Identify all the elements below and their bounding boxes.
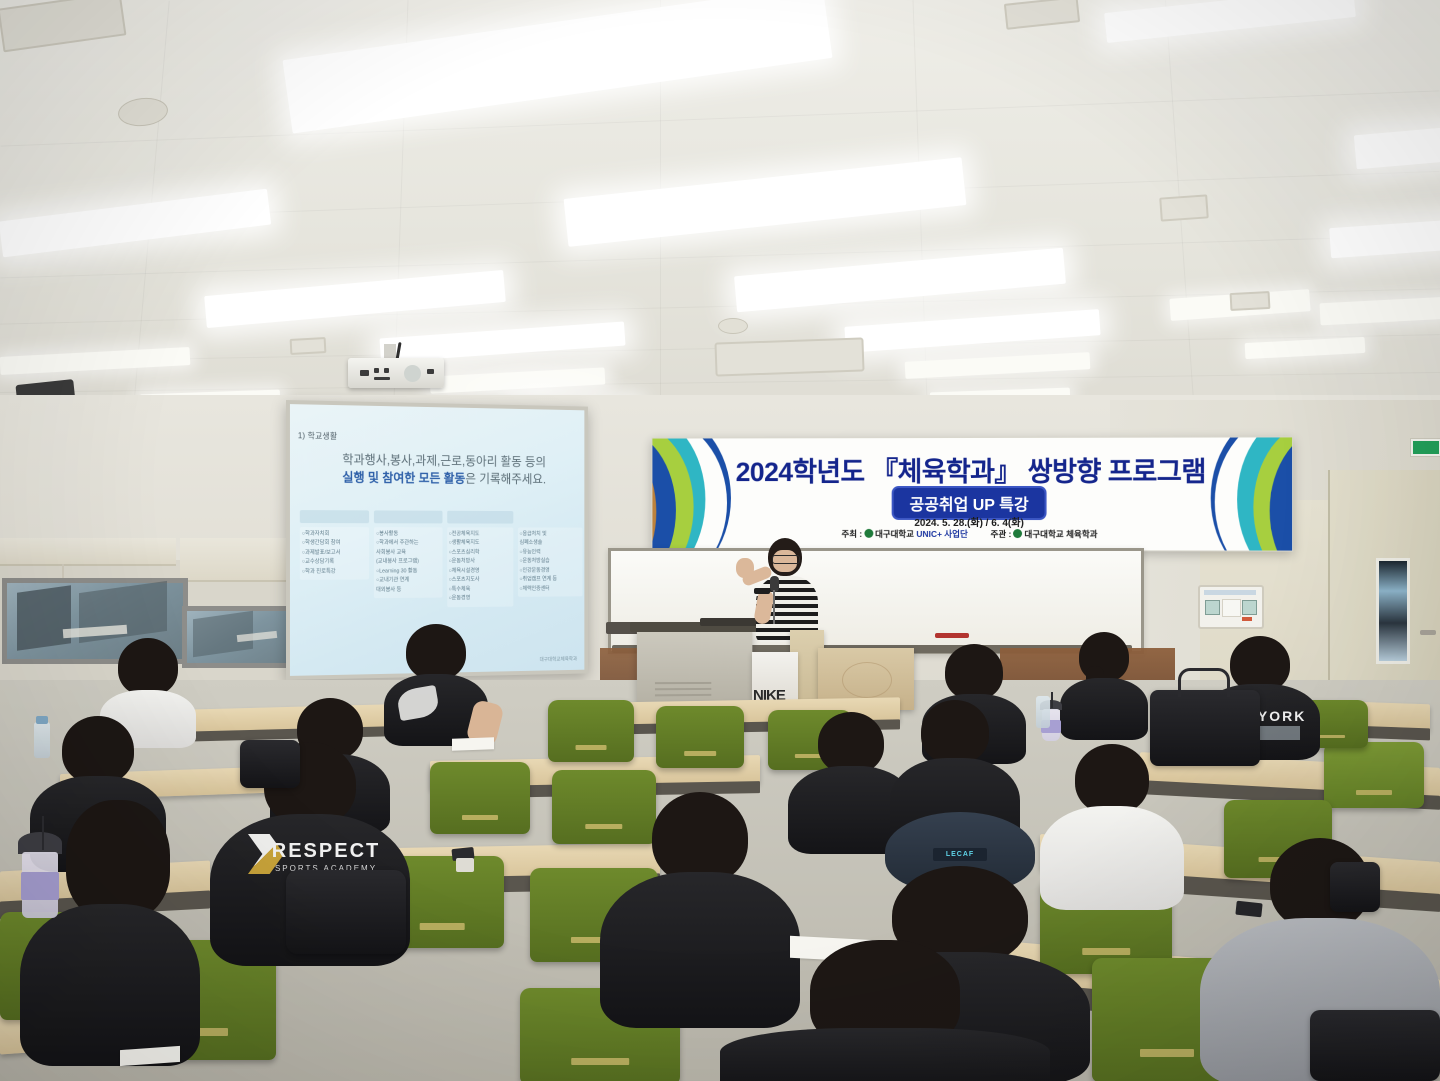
host-logo-icon — [864, 529, 873, 538]
small-item — [456, 858, 474, 872]
column-item: ○학과자치회 — [302, 530, 368, 539]
column-item: ○봉사활동 — [376, 530, 440, 539]
column-item: 심폐소생술 — [520, 539, 581, 548]
ceiling-light — [1329, 216, 1440, 258]
audience-member — [384, 624, 488, 744]
whiteboard-marker[interactable] — [935, 633, 969, 638]
handout-paper — [452, 737, 494, 750]
ceiling-light — [734, 248, 1066, 313]
torso — [1060, 678, 1148, 740]
head — [66, 800, 170, 920]
column-item: (교내봉사 프로그램) — [376, 558, 440, 568]
column-item: ○과제발표/보고서 — [302, 549, 368, 559]
slide-header: 1) 학교생활 — [298, 430, 337, 442]
ceiling-light — [1245, 337, 1366, 359]
chair[interactable] — [656, 706, 744, 768]
slide-columns: ○학과자치회 ○학생간담회 참여 ○과제발표/보고서 ○교수상담기록 ○학과 진… — [300, 510, 583, 608]
ceiling — [0, 0, 1440, 430]
cup-lid — [18, 832, 62, 854]
lecture-hall-photo: 1) 학교생활 학과행사,봉사,과제,근로,동아리 활동 등의 실행 및 참여한… — [0, 0, 1440, 1081]
glasses-icon — [772, 555, 800, 564]
column-item: ○스포츠지도사 — [449, 576, 512, 586]
phone-icon[interactable] — [1235, 901, 1262, 918]
column-item: ○학과에서 주관하는 — [376, 539, 440, 548]
backpack — [240, 740, 300, 788]
slide-line-2: 실행 및 참여한 모든 활동은 기록해주세요. — [314, 468, 573, 488]
chair[interactable] — [430, 762, 530, 834]
column-item: ○응급처치 및 — [520, 530, 581, 539]
column-item: ○인강운동경영 — [520, 567, 581, 576]
respect-shirt-text: RESPECT — [272, 840, 380, 863]
column-item: ○전공체육지도 — [449, 530, 512, 539]
head — [652, 792, 748, 884]
organizer-label: 주관 : — [991, 529, 1012, 539]
water-bottle — [34, 722, 50, 758]
head — [818, 712, 884, 774]
window-blind[interactable] — [0, 538, 176, 566]
column-item: ○체력인증센터 — [520, 585, 581, 595]
head — [945, 644, 1003, 700]
bottle-cap — [36, 716, 48, 724]
duffel-bag — [1150, 690, 1260, 766]
wristwatch-icon — [754, 588, 770, 594]
ceiling-light — [844, 309, 1100, 353]
ceiling-ac-unit — [714, 337, 864, 376]
chair[interactable] — [1324, 742, 1424, 808]
door-handle[interactable] — [1420, 630, 1436, 635]
audience-member-foreground — [720, 950, 1050, 1081]
banner-title: 2024학년도 『체육학과』 쌍방향 프로그램 — [652, 450, 1292, 490]
air-vent-icon — [290, 337, 327, 355]
backpack — [1330, 862, 1380, 912]
air-vent-icon — [1230, 291, 1271, 311]
event-banner: 2024학년도 『체육학과』 쌍방향 프로그램 공공취업 UP 특강 2024.… — [651, 436, 1293, 551]
iced-beverage-cup — [18, 832, 62, 918]
backpack — [1310, 1010, 1440, 1081]
slide-footer-logo: 대구대학교체육학과 — [540, 655, 578, 662]
head — [118, 638, 178, 696]
host-program: UNIC+ 사업단 — [916, 529, 967, 539]
straw — [42, 816, 44, 850]
projector-icon — [348, 358, 444, 388]
box-seal — [842, 662, 892, 698]
ceiling-light — [1320, 297, 1440, 326]
ceiling-light — [0, 347, 190, 375]
ceiling-light — [1104, 0, 1356, 43]
host-label: 주최 : — [841, 529, 862, 539]
column-heading — [447, 511, 513, 524]
smoke-detector-icon — [718, 318, 748, 334]
organizer-name: 대구대학교 체육학과 — [1024, 529, 1097, 539]
column-item: ○학생간담회 참여 — [302, 539, 368, 548]
slide-main-text: 학과행사,봉사,과제,근로,동아리 활동 등의 실행 및 참여한 모든 활동은 … — [314, 450, 573, 488]
door-window — [1376, 558, 1410, 664]
microphone-stand — [773, 590, 775, 624]
column-item: ○스포츠심리학 — [449, 549, 512, 558]
water-bottle — [1036, 696, 1050, 728]
air-vent-icon — [0, 0, 126, 52]
slide-column: ○응급처치 및 심폐소생술 ○유능인력 ○운동처방실습 ○인강운동경영 ○취업캠… — [518, 511, 583, 606]
ceiling-light — [204, 270, 506, 328]
organizer-logo-icon — [1013, 529, 1022, 538]
torso — [20, 904, 200, 1066]
column-heading — [300, 510, 369, 523]
smoke-detector-icon — [117, 95, 170, 128]
column-item: ○체육시설경영 — [449, 567, 512, 576]
air-vent-icon — [1004, 0, 1080, 30]
audience-member — [1060, 632, 1148, 740]
ceiling-light — [283, 0, 833, 134]
column-item: ○운동경영 — [449, 594, 512, 604]
exit-sign-icon — [1410, 438, 1440, 457]
column-item: ○운동처방사 — [449, 558, 512, 567]
column-item: ○생활체육지도 — [449, 539, 512, 548]
head — [62, 716, 134, 784]
chair[interactable] — [548, 700, 634, 762]
host-name: 대구대학교 — [875, 529, 914, 539]
ceiling-light — [905, 352, 1091, 379]
column-item: ○Learning 30 활동 — [376, 567, 440, 577]
lecaf-cap-text: LECAF — [933, 848, 987, 861]
column-item: 사회봉사 교육 — [376, 549, 440, 558]
backpack — [286, 870, 406, 954]
column-item: ○교내기관 연계 — [376, 576, 440, 586]
straw — [1051, 692, 1053, 708]
cup-sleeve — [21, 872, 59, 900]
column-heading — [374, 510, 442, 523]
slide-column: ○전공체육지도 ○생활체육지도 ○스포츠심리학 ○운동처방사 ○체육시설경영 ○… — [447, 511, 513, 607]
slide-line-2-tail: 은 기록해주세요. — [465, 472, 546, 486]
bag-strap — [1178, 668, 1230, 697]
presenter-hand — [736, 558, 754, 578]
column-item: ○취업캠프 연계 등 — [520, 576, 581, 585]
slide-column: ○학과자치회 ○학생간담회 참여 ○과제발표/보고서 ○교수상담기록 ○학과 진… — [300, 510, 369, 608]
column-item: ○학과 진로특강 — [302, 567, 368, 577]
slide-column: ○봉사활동 ○학과에서 주관하는 사회봉사 교육 (교내봉사 프로그램) ○Le… — [374, 510, 442, 607]
wall-control-panel-icon[interactable] — [1198, 585, 1264, 629]
ceiling-light — [564, 157, 967, 247]
window-blind[interactable] — [180, 538, 300, 582]
ceiling-light — [1354, 121, 1440, 170]
head — [1075, 744, 1149, 814]
head — [406, 624, 466, 680]
torso — [720, 1028, 1050, 1081]
column-item: ○교수상담기록 — [302, 558, 368, 568]
column-item: ○유능인력 — [520, 548, 581, 557]
ceiling-light — [379, 321, 625, 362]
head — [921, 700, 989, 764]
air-vent-icon — [1159, 194, 1209, 221]
column-item: ○운동처방실습 — [520, 558, 581, 567]
column-item: 대외봉사 등 — [376, 586, 440, 596]
ceiling-light — [0, 189, 271, 258]
slide-line-2-highlight: 실행 및 참여한 모든 활동 — [342, 471, 465, 486]
